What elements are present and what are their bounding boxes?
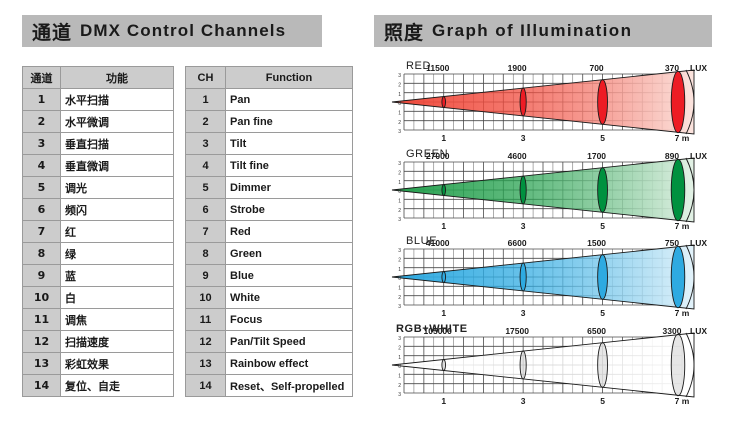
- table-row: 14Reset、Self-propelled: [186, 375, 353, 397]
- graph-series-label: BLUE: [406, 235, 437, 247]
- channel-function: 频闪: [61, 199, 174, 221]
- illumination-title-cn: 照度: [384, 18, 424, 45]
- channel-function: Tilt: [226, 133, 353, 155]
- svg-text:4600: 4600: [508, 151, 527, 161]
- column-header-function: Function: [226, 67, 353, 89]
- channel-number: 8: [186, 243, 226, 265]
- channel-function: White: [226, 287, 353, 309]
- channel-function: Focus: [226, 309, 353, 331]
- table-row: 10白: [23, 287, 174, 309]
- column-header-function: 功能: [61, 67, 174, 89]
- channel-function: Pan: [226, 89, 353, 111]
- table-row: 9Blue: [186, 265, 353, 287]
- svg-text:5: 5: [600, 133, 605, 143]
- channel-function: 蓝: [61, 265, 174, 287]
- svg-text:7 m: 7 m: [675, 133, 690, 143]
- svg-text:17500: 17500: [505, 326, 529, 336]
- dmx-channels-title-cn: 通道: [32, 18, 72, 45]
- svg-text:6500: 6500: [587, 326, 606, 336]
- table-row: 13彩虹效果: [23, 353, 174, 375]
- svg-text:LUX: LUX: [690, 238, 707, 248]
- channel-number: 12: [23, 331, 61, 353]
- svg-text:2: 2: [398, 83, 401, 89]
- channel-table-cn: 通道 功能 1水平扫描2水平微调3垂直扫描4垂直微调5调光6频闪7红8绿9蓝10…: [22, 66, 174, 397]
- channel-function: 彩虹效果: [61, 353, 174, 375]
- channel-number: 4: [186, 155, 226, 177]
- channel-number: 8: [23, 243, 61, 265]
- channel-function: Reset、Self-propelled: [226, 375, 353, 397]
- table-row: 5Dimmer: [186, 177, 353, 199]
- channel-function: Red: [226, 221, 353, 243]
- channel-function: 白: [61, 287, 174, 309]
- svg-text:1: 1: [398, 92, 401, 98]
- table-row: 11Focus: [186, 309, 353, 331]
- channel-number: 10: [186, 287, 226, 309]
- svg-text:3: 3: [398, 336, 401, 342]
- channel-number: 10: [23, 287, 61, 309]
- svg-text:1: 1: [441, 221, 446, 231]
- svg-text:1: 1: [441, 396, 446, 406]
- channel-function: 复位、自走: [61, 375, 174, 397]
- graph-series-label: RED: [406, 60, 431, 72]
- channel-function: Tilt fine: [226, 155, 353, 177]
- table-row: 13Rainbow effect: [186, 353, 353, 375]
- svg-text:750: 750: [665, 238, 679, 248]
- svg-text:1: 1: [398, 180, 401, 186]
- svg-text:2: 2: [398, 383, 401, 389]
- illumination-graph-rgbwhite: 32101231357 m1050001750065003300LUXRGB+W…: [374, 321, 724, 409]
- svg-text:1: 1: [441, 308, 446, 318]
- column-header-channel: 通道: [23, 67, 61, 89]
- channel-function: 水平扫描: [61, 89, 174, 111]
- svg-text:3: 3: [398, 129, 401, 135]
- svg-text:3: 3: [521, 396, 526, 406]
- graph-series-label: GREEN: [406, 148, 448, 160]
- channel-function: Green: [226, 243, 353, 265]
- svg-text:3: 3: [398, 73, 401, 79]
- table-row: 4垂直微调: [23, 155, 174, 177]
- channel-number: 9: [23, 265, 61, 287]
- channel-function: 垂直扫描: [61, 133, 174, 155]
- dmx-channels-header: 通道 DMX Control Channels: [22, 15, 322, 47]
- svg-text:2: 2: [398, 295, 401, 301]
- channel-function: Pan fine: [226, 111, 353, 133]
- channel-function: 水平微调: [61, 111, 174, 133]
- svg-text:7 m: 7 m: [675, 221, 690, 231]
- svg-text:1: 1: [398, 111, 401, 117]
- svg-text:1: 1: [441, 133, 446, 143]
- svg-text:370: 370: [665, 63, 679, 73]
- table-row: 10White: [186, 287, 353, 309]
- table-row: 1Pan: [186, 89, 353, 111]
- channel-function: Pan/Tilt Speed: [226, 331, 353, 353]
- svg-text:7 m: 7 m: [675, 396, 690, 406]
- channel-number: 2: [186, 111, 226, 133]
- table-row: 11调焦: [23, 309, 174, 331]
- svg-text:1: 1: [398, 286, 401, 292]
- illumination-graph-red: 32101231357 m115001900700370LUXRED: [374, 58, 724, 146]
- svg-text:3: 3: [398, 392, 401, 398]
- table-row: 3垂直扫描: [23, 133, 174, 155]
- channel-number: 1: [23, 89, 61, 111]
- table-row: 12扫描速度: [23, 331, 174, 353]
- channel-number: 11: [23, 309, 61, 331]
- svg-text:1: 1: [398, 355, 401, 361]
- channel-number: 14: [186, 375, 226, 397]
- svg-text:1500: 1500: [587, 238, 606, 248]
- table-row: 6频闪: [23, 199, 174, 221]
- channel-number: 13: [23, 353, 61, 375]
- svg-text:2: 2: [398, 171, 401, 177]
- svg-text:LUX: LUX: [690, 326, 707, 336]
- svg-text:3: 3: [521, 221, 526, 231]
- svg-text:1700: 1700: [587, 151, 606, 161]
- illumination-graph-green: 32101231357 m2700046001700890LUXGREEN: [374, 146, 724, 234]
- channel-number: 6: [186, 199, 226, 221]
- svg-text:0: 0: [398, 189, 401, 195]
- graph-series-label: RGB+WHITE: [396, 323, 468, 335]
- svg-text:3: 3: [398, 161, 401, 167]
- table-row: 7Red: [186, 221, 353, 243]
- table-row: 8绿: [23, 243, 174, 265]
- svg-text:6600: 6600: [508, 238, 527, 248]
- svg-text:890: 890: [665, 151, 679, 161]
- channel-function: 调光: [61, 177, 174, 199]
- svg-text:3: 3: [398, 217, 401, 223]
- illumination-title-en: Graph of Illumination: [432, 21, 632, 41]
- channel-number: 1: [186, 89, 226, 111]
- table-row: 2Pan fine: [186, 111, 353, 133]
- channel-number: 9: [186, 265, 226, 287]
- channel-function: Dimmer: [226, 177, 353, 199]
- channel-number: 11: [186, 309, 226, 331]
- table-row: 9蓝: [23, 265, 174, 287]
- svg-text:LUX: LUX: [690, 151, 707, 161]
- svg-text:3: 3: [521, 133, 526, 143]
- channel-function: 垂直微调: [61, 155, 174, 177]
- channel-function: Blue: [226, 265, 353, 287]
- channel-number: 14: [23, 375, 61, 397]
- dmx-channels-title-en: DMX Control Channels: [80, 21, 286, 41]
- table-row: 14复位、自走: [23, 375, 174, 397]
- table-row: 1水平扫描: [23, 89, 174, 111]
- table-row: 2水平微调: [23, 111, 174, 133]
- channel-function: 扫描速度: [61, 331, 174, 353]
- channel-function: 调焦: [61, 309, 174, 331]
- channel-number: 12: [186, 331, 226, 353]
- illumination-spec-sheet: 通道 DMX Control Channels 照度 Graph of Illu…: [0, 0, 735, 433]
- channel-function: 红: [61, 221, 174, 243]
- table-header-row: 通道 功能: [23, 67, 174, 89]
- svg-text:3: 3: [521, 308, 526, 318]
- table-row: 6Strobe: [186, 199, 353, 221]
- svg-text:5: 5: [600, 396, 605, 406]
- channel-number: 3: [186, 133, 226, 155]
- svg-text:5: 5: [600, 221, 605, 231]
- channel-number: 13: [186, 353, 226, 375]
- svg-text:2: 2: [398, 346, 401, 352]
- svg-text:5: 5: [600, 308, 605, 318]
- svg-text:700: 700: [589, 63, 603, 73]
- channel-number: 2: [23, 111, 61, 133]
- illumination-graph-header: 照度 Graph of Illumination: [374, 15, 712, 47]
- svg-text:0: 0: [398, 101, 401, 107]
- channel-number: 7: [23, 221, 61, 243]
- table-row: 5调光: [23, 177, 174, 199]
- svg-text:3: 3: [398, 304, 401, 310]
- channel-number: 6: [23, 199, 61, 221]
- channel-function: 绿: [61, 243, 174, 265]
- channel-number: 3: [23, 133, 61, 155]
- svg-text:2: 2: [398, 120, 401, 126]
- svg-text:1: 1: [398, 374, 401, 380]
- channel-number: 5: [23, 177, 61, 199]
- table-row: 12Pan/Tilt Speed: [186, 331, 353, 353]
- svg-text:3: 3: [398, 248, 401, 254]
- channel-number: 7: [186, 221, 226, 243]
- channel-number: 4: [23, 155, 61, 177]
- column-header-ch: CH: [186, 67, 226, 89]
- svg-text:3300: 3300: [663, 326, 682, 336]
- channel-table-en: CH Function 1Pan2Pan fine3Tilt4Tilt fine…: [185, 66, 353, 397]
- svg-text:7 m: 7 m: [675, 308, 690, 318]
- channel-number: 5: [186, 177, 226, 199]
- svg-text:2: 2: [398, 208, 401, 214]
- table-row: 7红: [23, 221, 174, 243]
- channel-function: Strobe: [226, 199, 353, 221]
- table-row: 3Tilt: [186, 133, 353, 155]
- channel-function: Rainbow effect: [226, 353, 353, 375]
- table-row: 4Tilt fine: [186, 155, 353, 177]
- svg-text:0: 0: [398, 364, 401, 370]
- svg-text:1900: 1900: [508, 63, 527, 73]
- table-row: 8Green: [186, 243, 353, 265]
- table-header-row: CH Function: [186, 67, 353, 89]
- svg-text:1: 1: [398, 199, 401, 205]
- svg-text:LUX: LUX: [690, 63, 707, 73]
- svg-text:1: 1: [398, 267, 401, 273]
- svg-text:2: 2: [398, 258, 401, 264]
- svg-text:0: 0: [398, 276, 401, 282]
- illumination-graph-blue: 32101231357 m4100066001500750LUXBLUE: [374, 233, 724, 321]
